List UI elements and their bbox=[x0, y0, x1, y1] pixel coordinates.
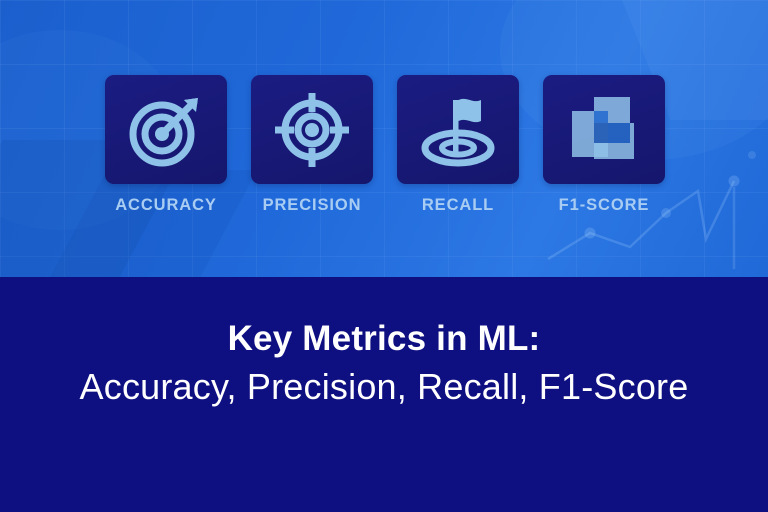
metric-label-f1-score: F1-SCORE bbox=[543, 196, 665, 215]
metric-card-row bbox=[105, 75, 665, 184]
metric-card-recall[interactable] bbox=[397, 75, 519, 184]
metric-label-row: ACCURACY PRECISION RECALL F1-SCORE bbox=[105, 196, 665, 215]
target-arrow-icon bbox=[126, 90, 206, 170]
metric-label-precision: PRECISION bbox=[251, 196, 373, 215]
overlapping-squares-icon bbox=[564, 91, 644, 169]
title-line-secondary: Accuracy, Precision, Recall, F1-Score bbox=[0, 366, 768, 408]
page-title: Key Metrics in ML: Accuracy, Precision, … bbox=[0, 319, 768, 409]
crosshair-icon bbox=[272, 90, 352, 170]
metric-card-f1-score[interactable] bbox=[543, 75, 665, 184]
slide-canvas: ACCURACY PRECISION RECALL F1-SCORE Key M… bbox=[0, 0, 768, 512]
hero-banner-top: ACCURACY PRECISION RECALL F1-SCORE bbox=[0, 0, 768, 277]
metric-label-accuracy: ACCURACY bbox=[105, 196, 227, 215]
flag-on-target-icon bbox=[417, 90, 499, 170]
title-banner-bottom: Key Metrics in ML: Accuracy, Precision, … bbox=[0, 277, 768, 512]
metric-card-precision[interactable] bbox=[251, 75, 373, 184]
metric-label-recall: RECALL bbox=[397, 196, 519, 215]
metric-card-accuracy[interactable] bbox=[105, 75, 227, 184]
title-line-primary: Key Metrics in ML: bbox=[0, 319, 768, 358]
